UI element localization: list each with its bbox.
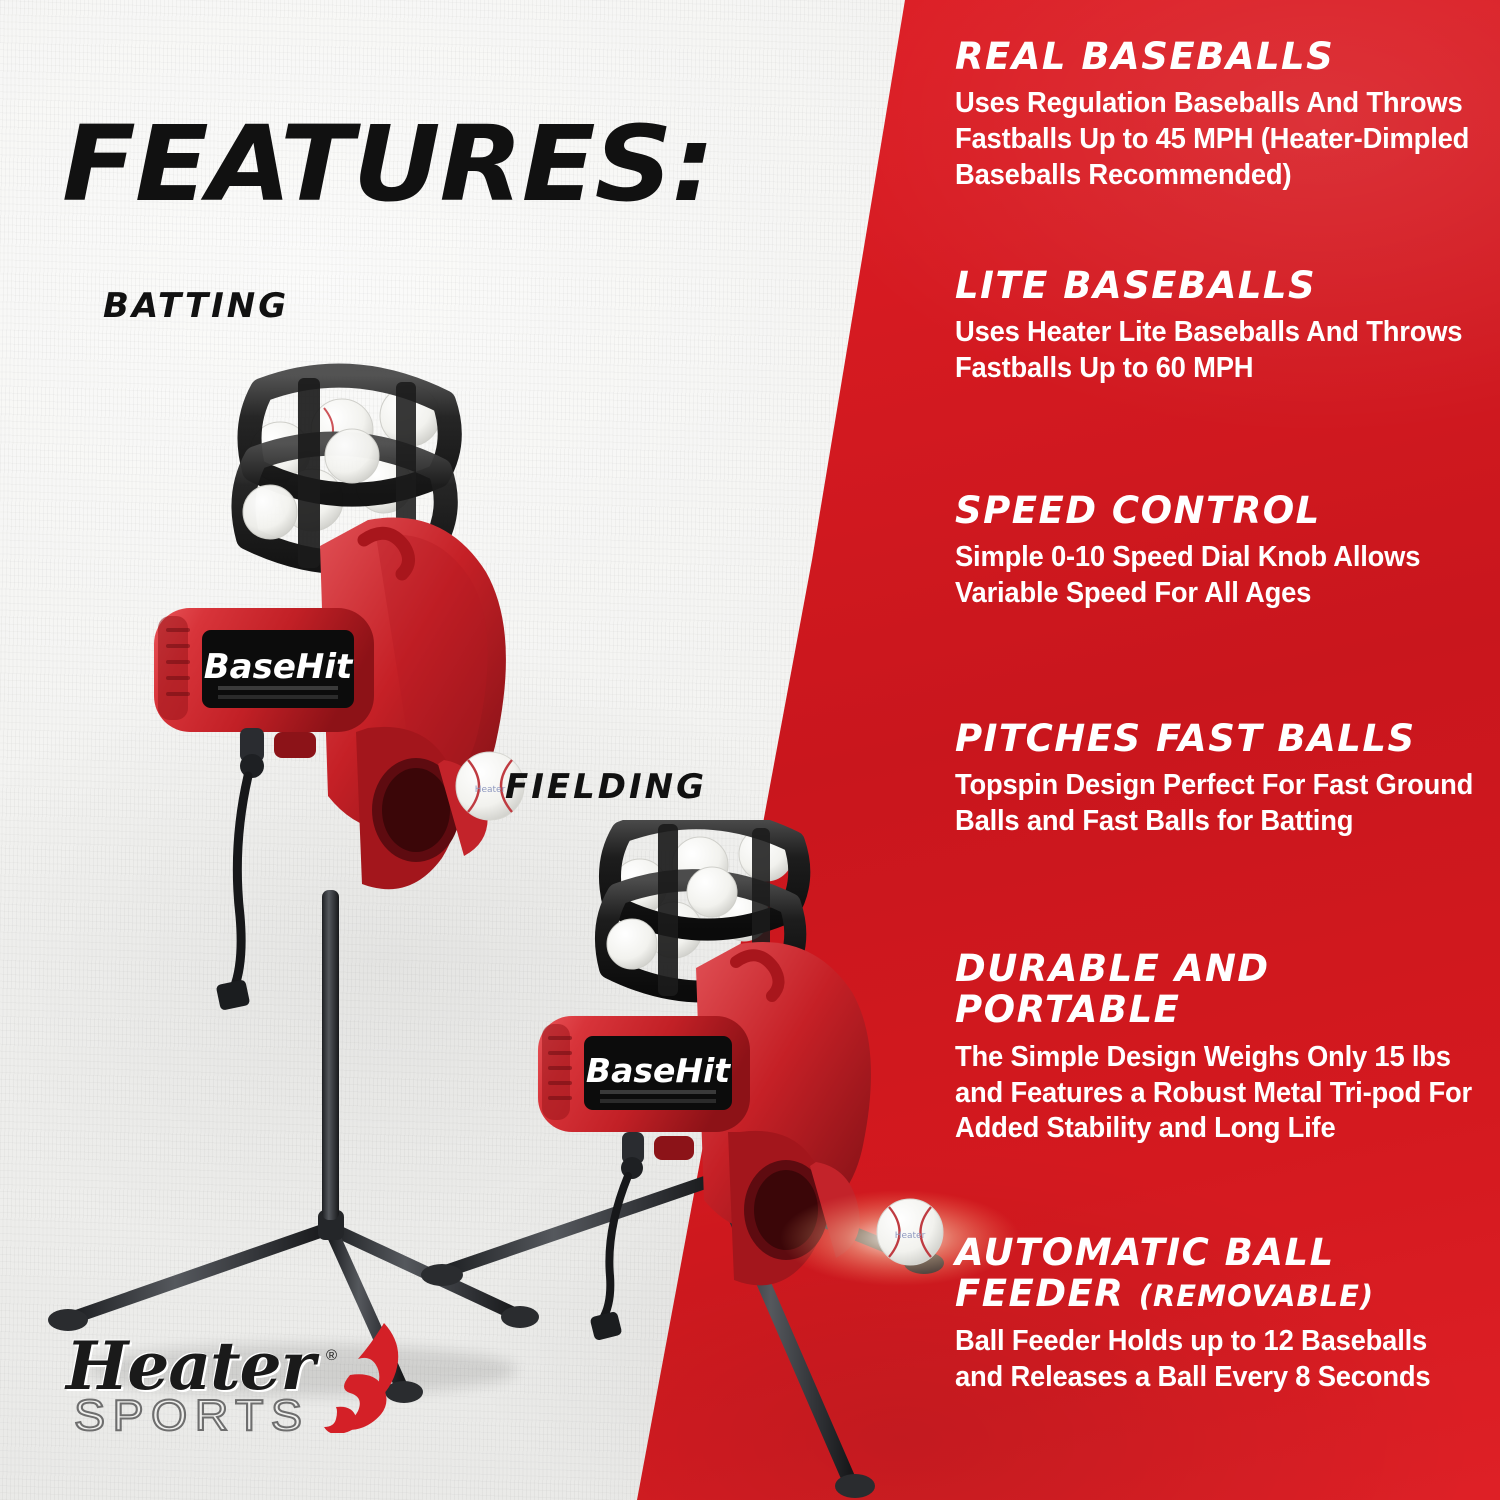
pitched-ball-fielding: Heater <box>877 1199 943 1265</box>
feature-heading: LITE BASEBALLS <box>955 265 1500 306</box>
feature-heading: PITCHES FAST BALLS <box>955 718 1500 759</box>
svg-text:BaseHit: BaseHit <box>586 1051 731 1090</box>
feature-heading: DURABLE AND PORTABLE <box>955 948 1375 1031</box>
heater-sports-logo: Heater ® SPORTS <box>60 1325 390 1445</box>
feature-body: Topspin Design Perfect For Fast Ground B… <box>955 768 1478 839</box>
svg-text:Heater: Heater <box>475 785 506 795</box>
feature-speed-control: SPEED CONTROL Simple 0-10 Speed Dial Kno… <box>955 490 1500 612</box>
label-fielding: FIELDING <box>505 767 707 807</box>
feature-body: Uses Regulation Baseballs And Throws Fas… <box>955 86 1478 193</box>
label-batting: BATTING <box>103 286 289 326</box>
basehit-badge-fielding: BaseHit <box>584 1036 732 1110</box>
feature-body: The Simple Design Weighs Only 15 lbs and… <box>955 1040 1478 1147</box>
feature-real-baseballs: REAL BASEBALLS Uses Regulation Baseballs… <box>955 36 1500 193</box>
feature-heading: REAL BASEBALLS <box>955 36 1500 77</box>
feature-pitches-fast-balls: PITCHES FAST BALLS Topspin Design Perfec… <box>955 718 1500 840</box>
logo-registered-mark: ® <box>326 1347 337 1364</box>
feature-list: REAL BASEBALLS Uses Regulation Baseballs… <box>955 0 1500 1500</box>
infographic-canvas: BaseHit Heater <box>0 0 1500 1500</box>
logo-subtitle: SPORTS <box>74 1391 309 1441</box>
feature-body: Simple 0-10 Speed Dial Knob Allows Varia… <box>955 540 1478 611</box>
svg-text:Heater: Heater <box>895 1231 926 1241</box>
feature-heading: AUTOMATIC BALL FEEDER (REMOVABLE) <box>955 1232 1425 1315</box>
basehit-badge: BaseHit <box>202 630 354 708</box>
feature-durable-and-portable: DURABLE AND PORTABLE The Simple Design W… <box>955 948 1375 1147</box>
machine-body-fielding: BaseHit <box>538 942 871 1341</box>
flame-icon <box>310 1321 410 1433</box>
feature-body: Uses Heater Lite Baseballs And Throws Fa… <box>955 315 1478 386</box>
feature-body: Ball Feeder Holds up to 12 Baseballs and… <box>955 1324 1478 1395</box>
feature-heading: SPEED CONTROL <box>955 490 1500 531</box>
page-title: FEATURES: <box>62 112 714 216</box>
feature-heading-suffix: (REMOVABLE) <box>1139 1279 1374 1313</box>
feature-lite-baseballs: LITE BASEBALLS Uses Heater Lite Baseball… <box>955 265 1500 387</box>
svg-text:BaseHit: BaseHit <box>204 647 354 687</box>
pitching-machine-fielding: BaseHit Heater <box>400 820 1020 1500</box>
feature-automatic-ball-feeder: AUTOMATIC BALL FEEDER (REMOVABLE) Ball F… <box>955 1232 1425 1395</box>
